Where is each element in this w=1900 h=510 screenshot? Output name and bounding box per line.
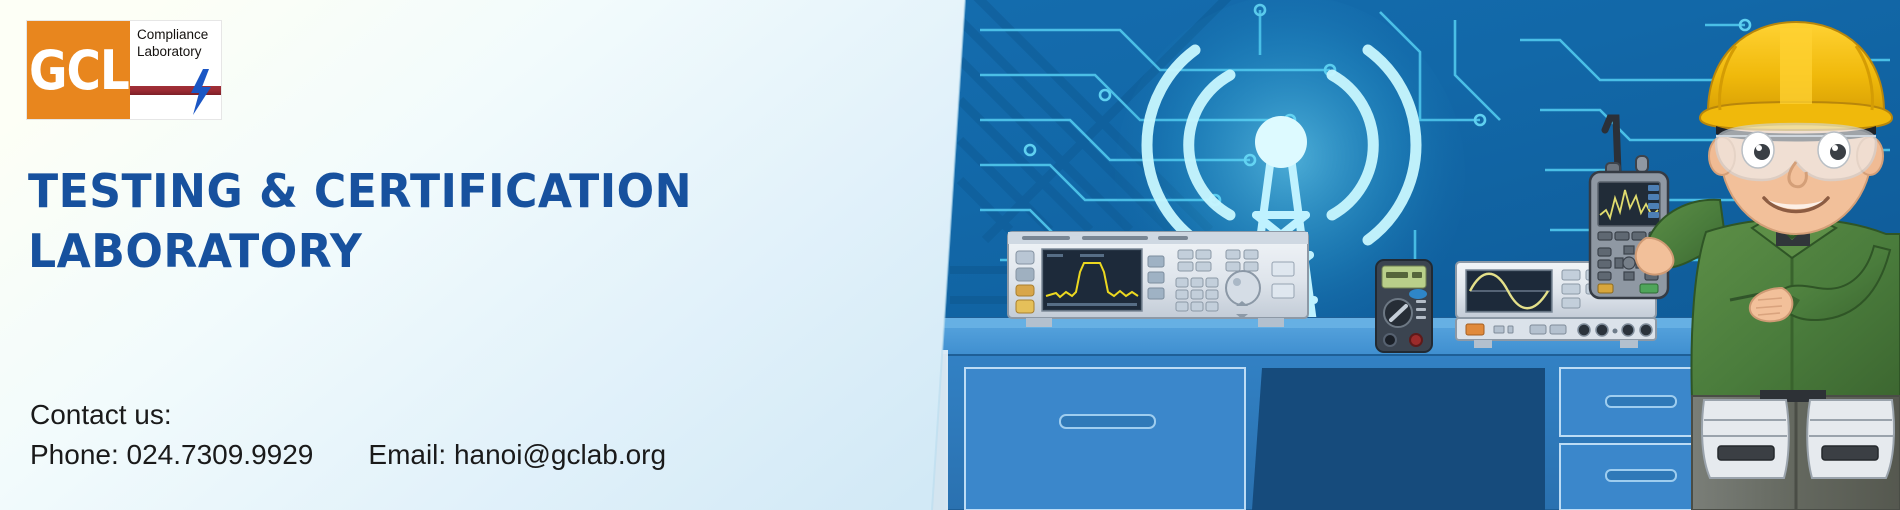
logo-line-compliance: Compliance	[137, 27, 221, 44]
headline-line-1: TESTING & CERTIFICATION	[28, 162, 700, 222]
logo-mark: GCL	[27, 21, 130, 119]
gcl-logo[interactable]: GCL Compliance Laboratory	[26, 20, 222, 120]
contact-phone[interactable]: Phone: 024.7309.9929	[30, 435, 313, 475]
lightning-bolt-icon	[187, 69, 213, 115]
contact-block: Contact us: Phone: 024.7309.9929 Email: …	[30, 395, 666, 475]
logo-mark-text: GCL	[29, 43, 129, 97]
logo-line-laboratory: Laboratory	[137, 44, 221, 61]
contact-spacer	[313, 435, 368, 475]
contact-label: Contact us:	[30, 395, 666, 435]
contact-email[interactable]: Email: hanoi@gclab.org	[368, 435, 666, 475]
headline-line-2: LABORATORY	[28, 222, 700, 282]
banner-root: GCL Compliance Laboratory TESTING & CERT…	[0, 0, 1900, 510]
page-title: TESTING & CERTIFICATION LABORATORY	[28, 162, 728, 282]
logo-text-block: Compliance Laboratory	[130, 21, 221, 119]
